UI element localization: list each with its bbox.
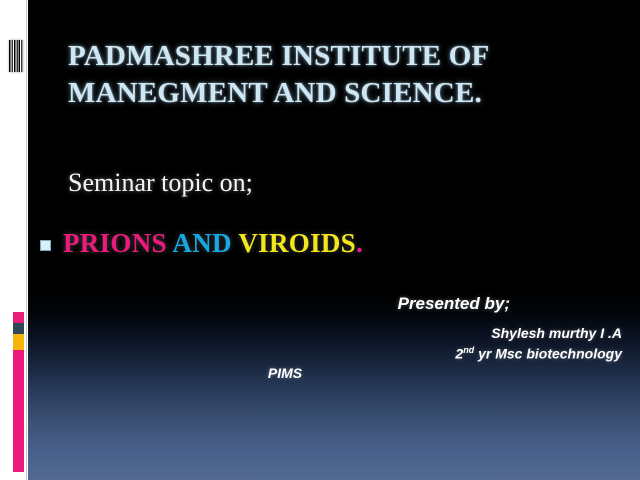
left-margin-rule: [26, 0, 27, 480]
barcode-stripes-icon: [9, 40, 23, 72]
topic-part-period: .: [356, 228, 363, 258]
presenter-course: 2nd yr Msc biotechnology: [28, 344, 622, 365]
title-slide: PADMASHREE INSTITUTE OF MANEGMENT AND SC…: [0, 0, 640, 480]
slide-content: PADMASHREE INSTITUTE OF MANEGMENT AND SC…: [28, 0, 640, 480]
presenter-credits: Shylesh murthy I .A 2nd yr Msc biotechno…: [28, 324, 640, 384]
topic-bullet-row: PRIONS AND VIROIDS.: [40, 228, 363, 259]
topic-part-viroids: VIROIDS: [238, 228, 356, 258]
presenter-course-ordinal: nd: [463, 345, 474, 355]
presenter-institute: PIMS: [28, 364, 622, 384]
presenter-course-rest: yr Msc biotechnology: [474, 346, 622, 362]
accent-segment-pink-long: [13, 350, 24, 472]
presented-by-label: Presented by;: [28, 294, 640, 314]
square-bullet-icon: [40, 240, 51, 251]
slide-title: PADMASHREE INSTITUTE OF MANEGMENT AND SC…: [68, 38, 608, 111]
accent-segment-pink-top: [13, 312, 24, 323]
accent-segment-teal: [13, 323, 24, 334]
presenter-name: Shylesh murthy I .A: [28, 324, 622, 344]
accent-color-bar: [13, 312, 24, 472]
accent-segment-yellow: [13, 334, 24, 350]
topic-part-prions: PRIONS: [63, 228, 167, 258]
topic-text: PRIONS AND VIROIDS.: [63, 228, 363, 259]
slide-subtitle: Seminar topic on;: [68, 168, 253, 198]
topic-part-and: AND: [172, 228, 231, 258]
